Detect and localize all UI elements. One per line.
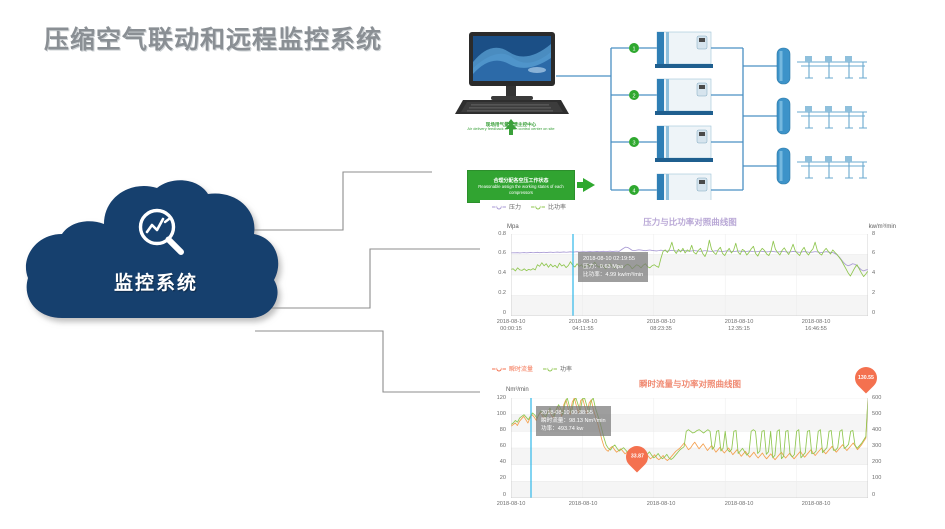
chart2-tooltip-time: 2018-08-10 00:38:55 (541, 409, 606, 417)
pressure-vs-specific-power-chart: 压力 比功率 压力与比功率对照曲线图 Mpa kw/m³/min 0.8 0.6… (480, 200, 900, 330)
legend-marker-power (543, 366, 557, 372)
chart2-y2tick-3: 300 (872, 443, 890, 449)
chart1-tooltip-pressure: 压力：0.63 Mpa (583, 263, 643, 271)
chart1-y-unit: Mpa (507, 224, 519, 230)
monitor-caption: 现场用气量反馈主控中心 Air delivery feedback of mai… (455, 122, 567, 132)
chart2-y-unit: Nm³/min (506, 387, 529, 393)
chart2-ytick-1: 100 (482, 411, 506, 417)
assign-status-box: 合理分配各空压工作状态 Reasonable assign the workin… (467, 170, 575, 203)
chart2-marker-min-label: 33.87 (631, 454, 644, 460)
legend-label-specific-power: 比功率 (548, 202, 566, 211)
legend-marker-pressure (492, 204, 506, 210)
svg-text:3: 3 (632, 140, 635, 146)
chart1-xtick-2: 2018-08-1008:23:35 (632, 319, 690, 333)
chart2-y2tick-6: 0 (872, 492, 890, 498)
chart2-tooltip-flow: 瞬时流量：98.13 Nm³/min (541, 417, 606, 425)
chart1-y2tick-4: 0 (872, 310, 886, 316)
svg-text:2: 2 (632, 93, 635, 99)
chart1-xtick-4: 2018-08-1016:46:55 (787, 319, 845, 333)
magnifier-chart-icon (134, 206, 190, 258)
legend-label-power: 功率 (560, 364, 572, 373)
chart1-tooltip: 2018-08-10 02:19:55 压力：0.63 Mpa 比功率：4.99… (578, 252, 648, 282)
chart2-y2tick-5: 100 (872, 475, 890, 481)
legend-item-instant-flow[interactable]: 瞬时流量 (492, 364, 533, 373)
chart2-y2tick-4: 200 (872, 459, 890, 465)
chart2-xtick-0: 2018-08-10 (482, 501, 540, 508)
chart1-xtick-0: 2018-08-1000:00:15 (482, 319, 540, 333)
chart1-ytick-0: 0.8 (484, 231, 506, 237)
chart2-ytick-5: 20 (482, 475, 506, 481)
chart1-legend: 压力 比功率 (492, 202, 566, 211)
status-node-icon: 1 2 3 4 (629, 43, 639, 195)
chart1-ytick-3: 0.2 (484, 290, 506, 296)
chart2-tooltip-power: 功率：493.74 kw (541, 425, 606, 433)
legend-marker-specific-power (531, 204, 545, 210)
chart1-ytick-4: 0 (484, 310, 506, 316)
air-tank-icon (777, 48, 790, 184)
chart1-tooltip-time: 2018-08-10 02:19:55 (583, 255, 643, 263)
legend-label-instant-flow: 瞬时流量 (509, 364, 533, 373)
chart2-ytick-0: 120 (482, 395, 506, 401)
page-title: 压缩空气联动和远程监控系统 (44, 20, 382, 56)
chart1-xtick-3: 2018-08-1012:35:15 (710, 319, 768, 333)
chart2-y2tick-1: 500 (872, 411, 890, 417)
chart2-legend: 瞬时流量 功率 (492, 364, 572, 373)
chart2-xtick-2: 2018-08-10 (632, 501, 690, 508)
chart2-tooltip: 2018-08-10 00:38:55 瞬时流量：98.13 Nm³/min 功… (536, 406, 611, 436)
chart2-ytick-2: 80 (482, 427, 506, 433)
chart2-y2tick-2: 400 (872, 427, 890, 433)
monitoring-cloud[interactable]: 监控系统 (22, 178, 290, 330)
pipe-rack-icon (797, 56, 867, 178)
chart1-title: 压力与比功率对照曲线图 (480, 216, 900, 228)
svg-text:4: 4 (632, 188, 635, 194)
legend-item-pressure[interactable]: 压力 (492, 202, 521, 211)
pc-monitor-icon (455, 32, 569, 114)
chart1-y2tick-3: 2 (872, 290, 886, 296)
chart2-y2tick-0: 600 (872, 395, 890, 401)
chart1-y2tick-0: 8 (872, 231, 886, 237)
instant-flow-vs-power-chart: 瞬时流量 功率 瞬时流量与功率对照曲线图 Nm³/min 120 100 80 … (480, 362, 900, 527)
chart1-ytick-2: 0.4 (484, 270, 506, 276)
chart2-ytick-4: 40 (482, 459, 506, 465)
chart1-plot-area[interactable] (511, 234, 868, 316)
svg-text:1: 1 (632, 46, 635, 52)
chart2-xtick-1: 2018-08-10 (554, 501, 612, 508)
chart1-xtick-1: 2018-08-1004:11:55 (554, 319, 612, 333)
chart1-y2tick-1: 6 (872, 250, 886, 256)
chart2-xtick-4: 2018-08-10 (787, 501, 845, 508)
compressor-unit-icon (655, 32, 713, 203)
green-right-arrow-icon (577, 178, 595, 192)
legend-item-power[interactable]: 功率 (543, 364, 572, 373)
chart2-marker-max-label: 130.55 (858, 375, 874, 381)
chart1-ytick-1: 0.6 (484, 250, 506, 256)
chart1-y2-unit: kw/m³/min (869, 224, 896, 230)
legend-label-pressure: 压力 (509, 202, 521, 211)
legend-marker-instant-flow (492, 366, 506, 372)
chart1-y2tick-2: 4 (872, 270, 886, 276)
compressed-air-system-diagram: 1 2 3 4 (443, 18, 923, 203)
chart2-ytick-6: 0 (482, 492, 506, 498)
legend-item-specific-power[interactable]: 比功率 (531, 202, 566, 211)
chart1-tooltip-specific-power: 比功率：4.99 kw/m³/min (583, 271, 643, 279)
chart2-xtick-3: 2018-08-10 (710, 501, 768, 508)
chart2-ytick-3: 60 (482, 443, 506, 449)
chart2-title: 瞬时流量与功率对照曲线图 (480, 378, 900, 390)
